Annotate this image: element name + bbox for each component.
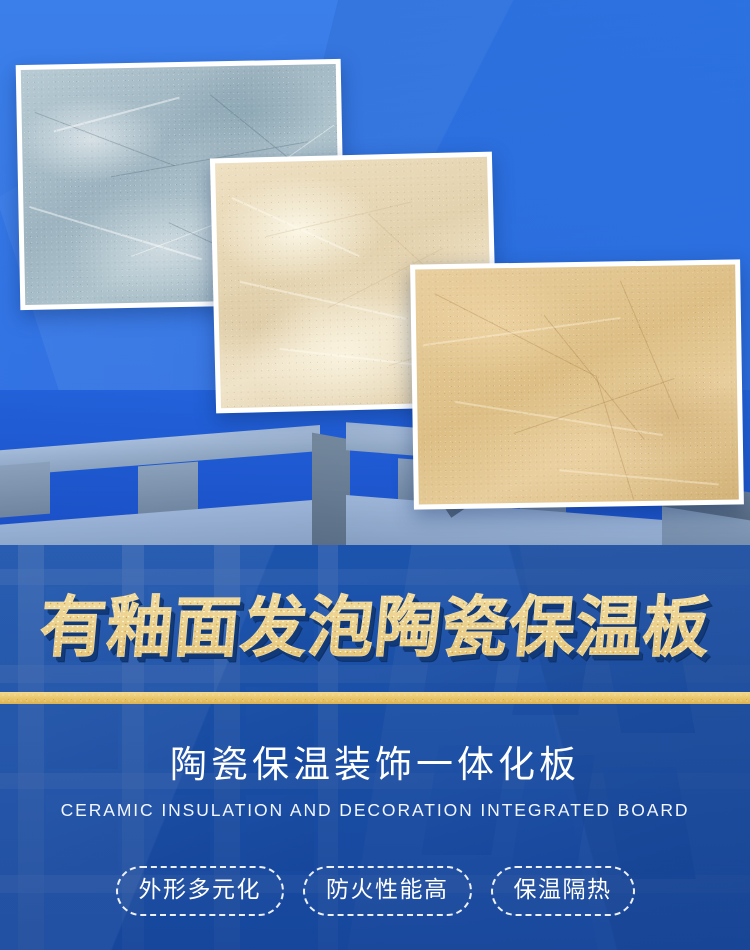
page-title: 有釉面发泡陶瓷保温板 [0, 584, 750, 672]
product-banner: 有釉面发泡陶瓷保温板 有釉面发泡陶瓷保温板 陶瓷保温装饰一体化板 CERAMIC… [0, 0, 750, 950]
feature-pill-2[interactable]: 防火性能高 [303, 866, 472, 916]
stone-grain-texture [415, 265, 739, 505]
gold-divider-bar [0, 692, 750, 704]
subtitle-english: CERAMIC INSULATION AND DECORATION INTEGR… [0, 798, 750, 822]
feature-pill-row: 外形多元化 防火性能高 保温隔热 [0, 866, 750, 916]
feature-pill-3[interactable]: 保温隔热 [491, 866, 635, 916]
tan-marble-tile [410, 259, 744, 509]
feature-pill-1[interactable]: 外形多元化 [116, 866, 285, 916]
subtitle-chinese: 陶瓷保温装饰一体化板 [0, 742, 750, 788]
